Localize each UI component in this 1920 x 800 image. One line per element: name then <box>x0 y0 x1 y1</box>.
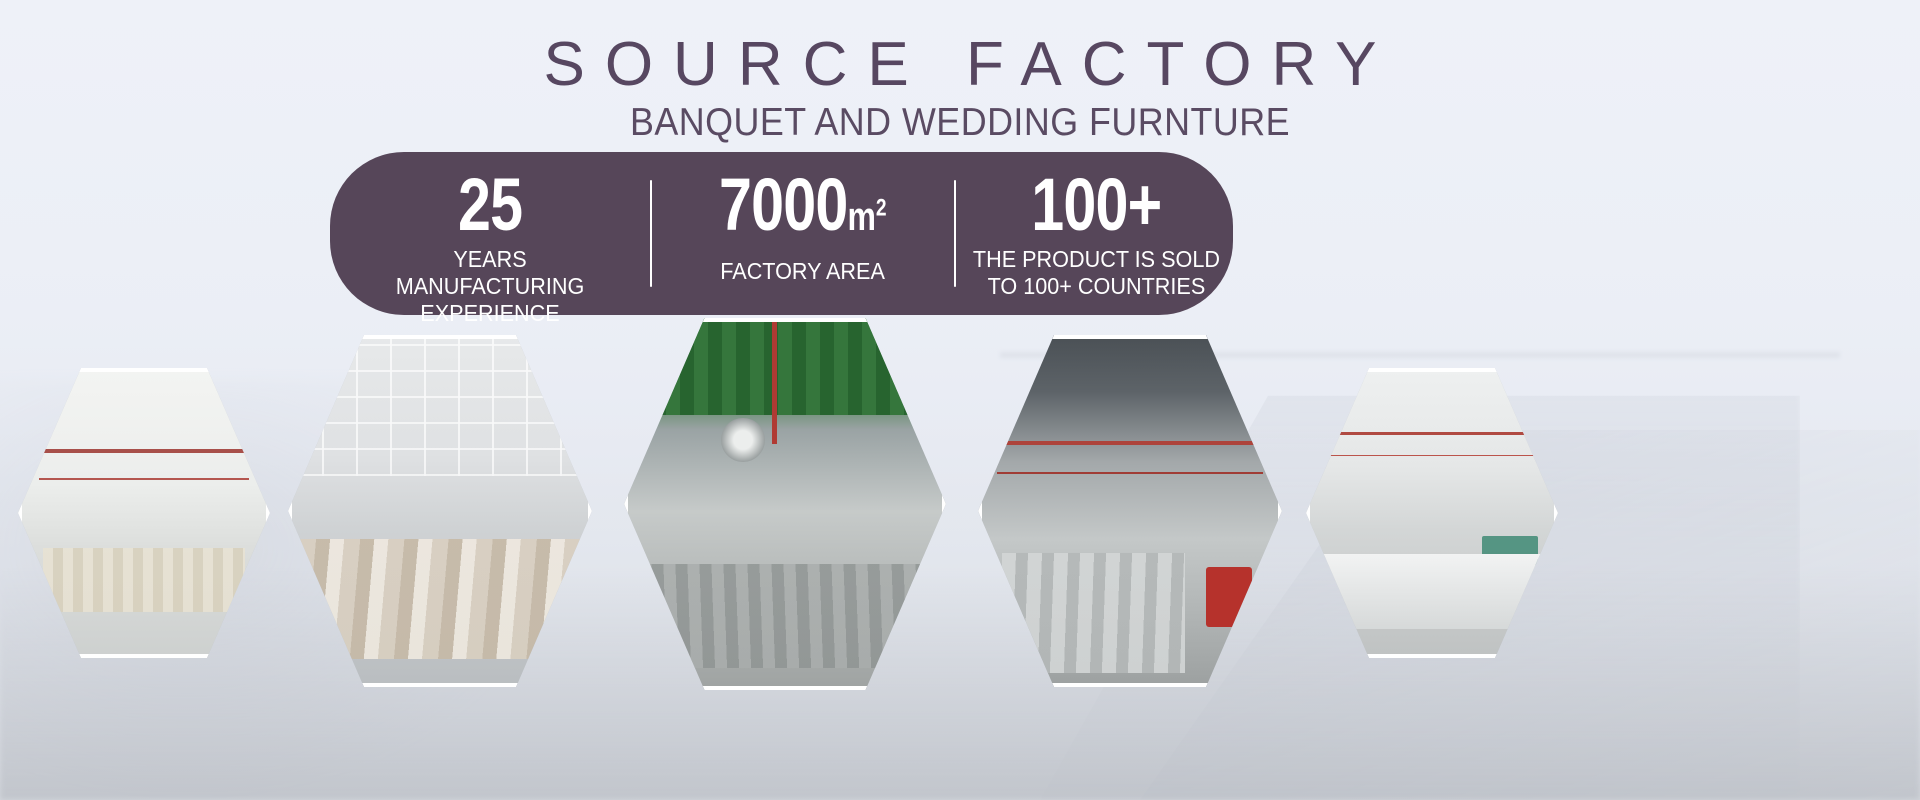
stat-factory-area: 7000m2 FACTORY AREA <box>652 152 954 315</box>
stat-countries: 100+ THE PRODUCT IS SOLD TO 100+ COUNTRI… <box>956 152 1237 315</box>
stat-factory-area-unit: m2 <box>848 195 887 239</box>
stat-unit-letter: m <box>848 195 876 239</box>
stat-years-caption: YEARS MANUFACTURING EXPERIENCE <box>340 246 641 327</box>
stat-countries-value: 100+ <box>1031 166 1161 244</box>
stat-factory-area-value: 7000m2 <box>719 166 887 256</box>
stats-bar: 25 YEARS MANUFACTURING EXPERIENCE 7000m2… <box>330 152 1233 315</box>
stat-factory-area-number: 7000 <box>719 163 848 246</box>
stat-years: 25 YEARS MANUFACTURING EXPERIENCE <box>330 152 650 315</box>
stat-years-value: 25 <box>458 166 522 244</box>
page-title: SOURCE FACTORY <box>0 30 1920 100</box>
banner-stage: SOURCE FACTORY BANQUET AND WEDDING FURNT… <box>0 0 1920 800</box>
stat-countries-caption: THE PRODUCT IS SOLD TO 100+ COUNTRIES <box>973 246 1220 300</box>
stat-unit-exponent: 2 <box>876 195 887 222</box>
page-subtitle: BANQUET AND WEDDING FURNTURE <box>77 101 1843 145</box>
stat-factory-area-caption: FACTORY AREA <box>721 258 886 285</box>
